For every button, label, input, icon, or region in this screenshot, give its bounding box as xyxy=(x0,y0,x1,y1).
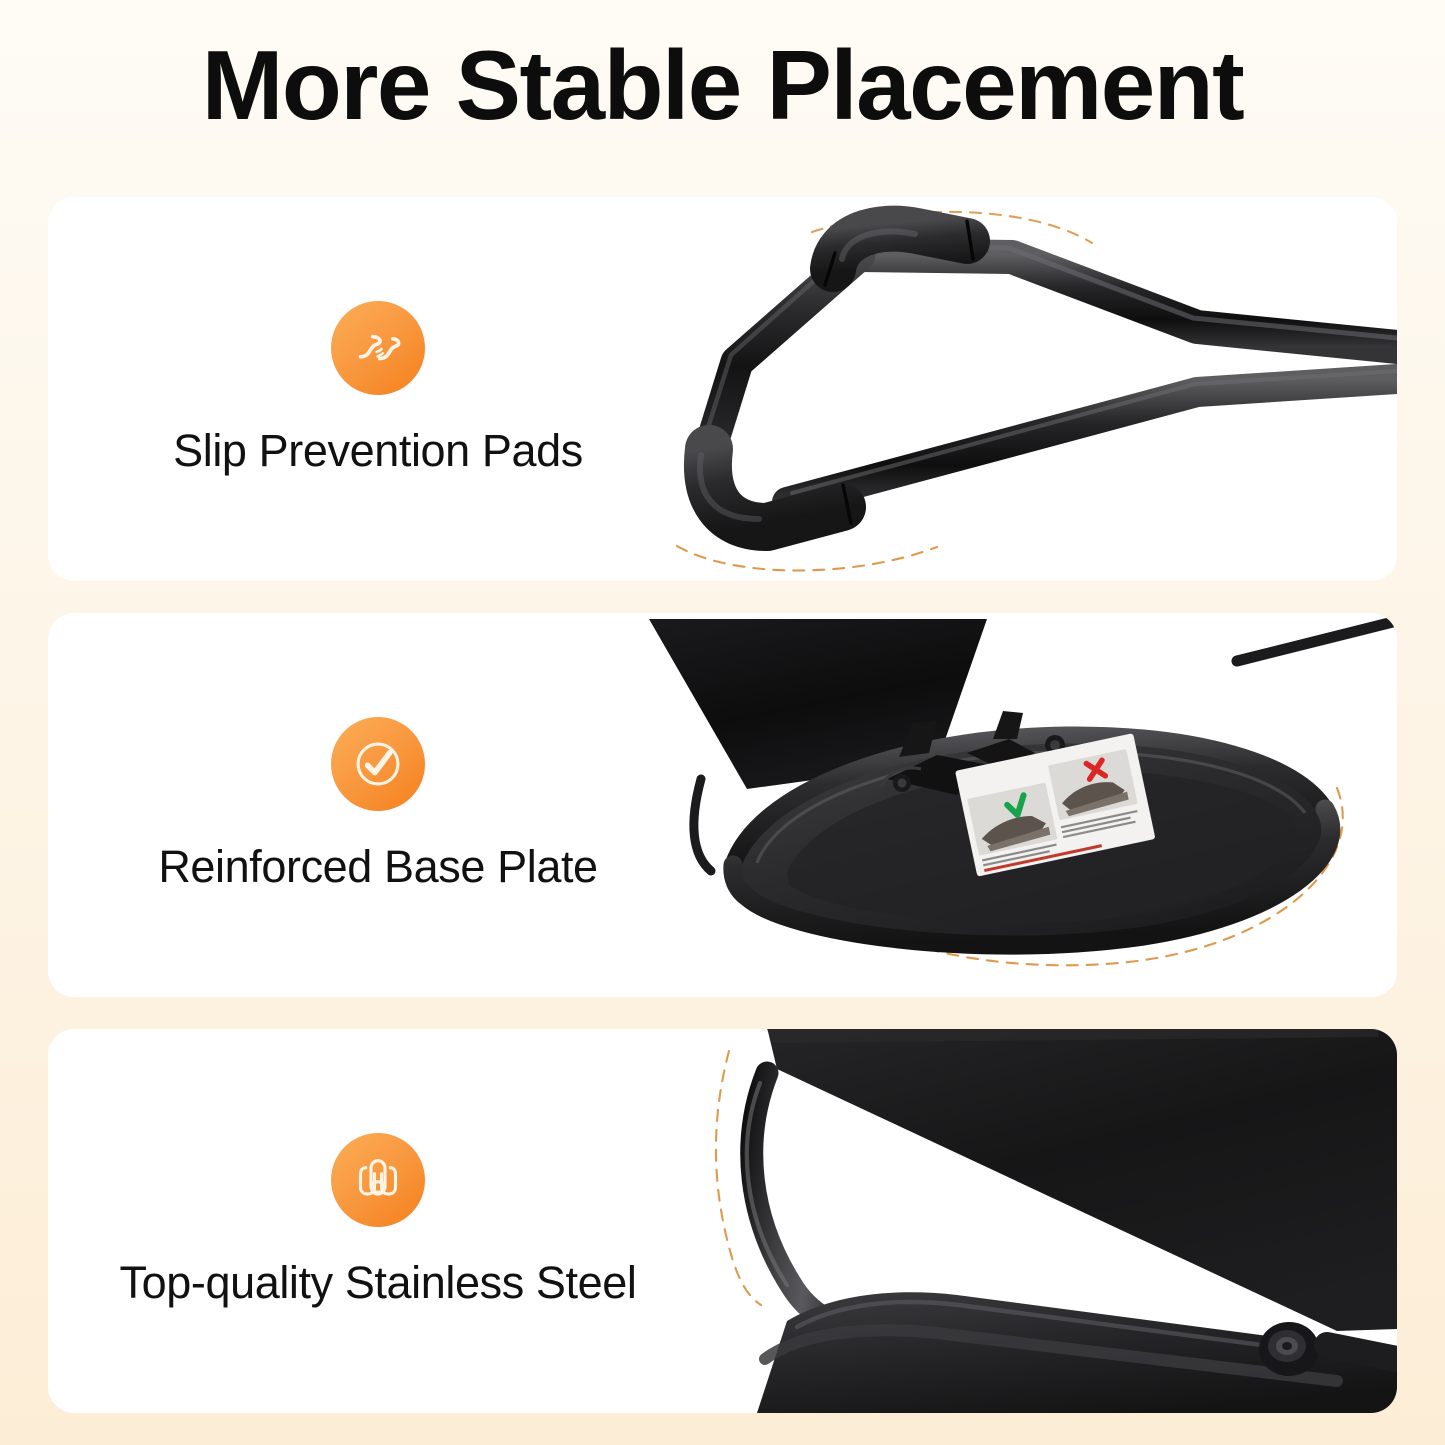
product-image-base-plate xyxy=(637,613,1397,997)
check-circle-icon xyxy=(331,717,425,811)
feature-card-slip-prevention-pads: Slip Prevention Pads xyxy=(48,197,1397,581)
anti-slip-pad-icon xyxy=(331,301,425,395)
feature-label: Top-quality Stainless Steel xyxy=(120,1257,637,1309)
steel-tubes-icon xyxy=(331,1133,425,1227)
product-feature-infographic: More Stable Placement Slip Prevention Pa… xyxy=(0,0,1445,1445)
feature-text-block: Slip Prevention Pads xyxy=(48,197,708,581)
feature-label: Reinforced Base Plate xyxy=(158,841,597,893)
feature-text-block: Top-quality Stainless Steel xyxy=(48,1029,708,1413)
feature-card-reinforced-base-plate: Reinforced Base Plate xyxy=(48,613,1397,997)
product-image-tube-frame xyxy=(637,197,1397,581)
product-image-steel-frame xyxy=(637,1029,1397,1413)
feature-label: Slip Prevention Pads xyxy=(173,425,583,477)
page-title: More Stable Placement xyxy=(0,34,1445,137)
feature-card-stainless-steel: Top-quality Stainless Steel xyxy=(48,1029,1397,1413)
feature-text-block: Reinforced Base Plate xyxy=(48,613,708,997)
